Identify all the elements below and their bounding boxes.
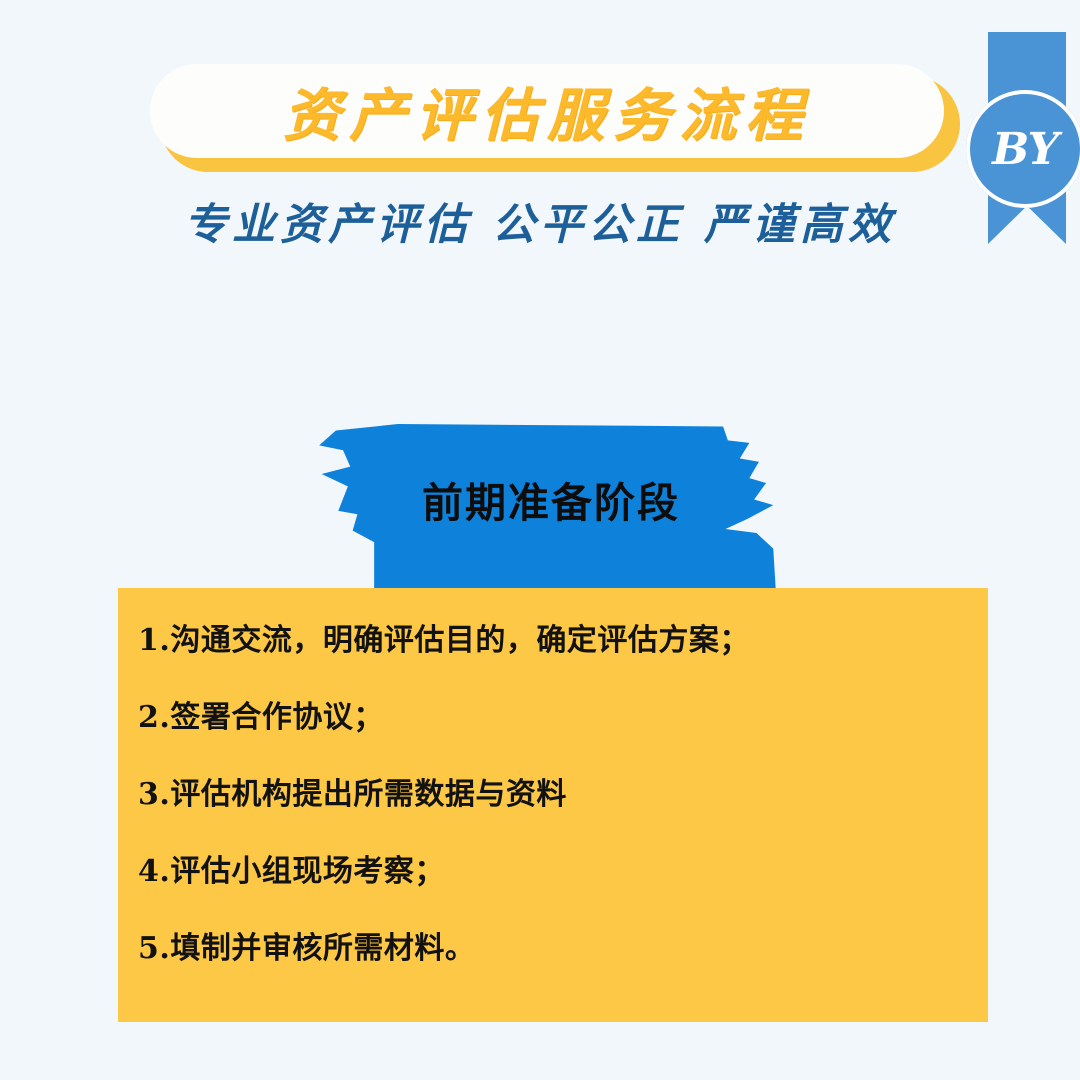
steps-list: 1.沟通交流，明确评估目的，确定评估方案； 2.签署合作协议； 3.评估机构提出… [128, 626, 988, 964]
brand-ribbon-badge: BY [988, 32, 1066, 244]
brand-initials: BY [966, 90, 1080, 208]
poster-canvas: 资产评估服务流程 专业资产评估 公平公正 严谨高效 BY 前期准备阶段 1.沟通… [0, 0, 1080, 1080]
stage-title: 前期准备阶段 [312, 424, 790, 574]
list-item: 5.填制并审核所需材料。 [128, 934, 988, 964]
title-banner: 资产评估服务流程 [150, 64, 950, 164]
steps-card: 1.沟通交流，明确评估目的，确定评估方案； 2.签署合作协议； 3.评估机构提出… [118, 588, 988, 1022]
page-subtitle: 专业资产评估 公平公正 严谨高效 [0, 190, 1080, 252]
list-item: 4.评估小组现场考察； [128, 857, 988, 887]
list-item: 1.沟通交流，明确评估目的，确定评估方案； [128, 626, 988, 656]
list-item: 2.签署合作协议； [128, 703, 988, 733]
stage-banner: 前期准备阶段 [312, 424, 790, 588]
list-item: 3.评估机构提出所需数据与资料 [128, 780, 988, 810]
page-title: 资产评估服务流程 [150, 64, 944, 158]
